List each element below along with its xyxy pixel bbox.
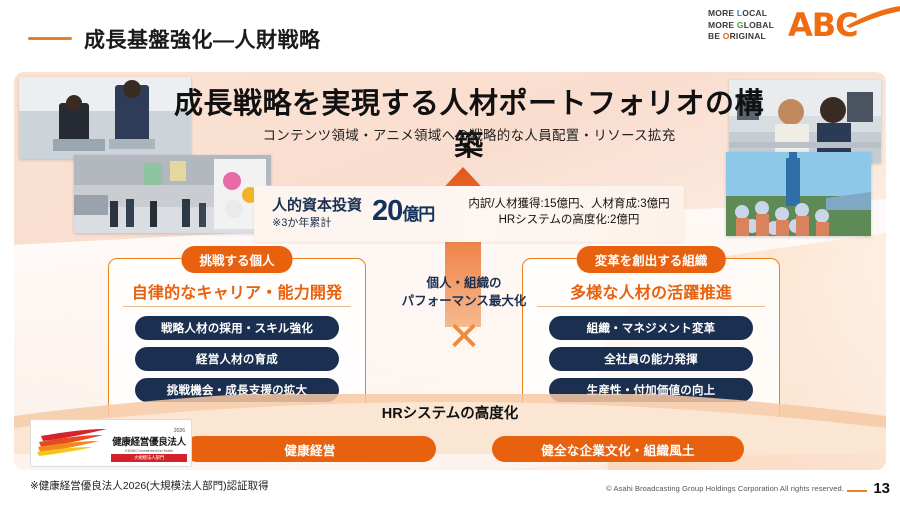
investment-label: 人的資本投資 [272,194,362,215]
page-title: 成長基盤強化—人財戦略 [84,24,321,54]
panel-right-item-2: 全社員の能力発揮 [549,347,753,371]
photo-office-laptop [19,77,191,159]
panel-left-badge: 挑戦する個人 [181,246,292,273]
footnote: ※健康経営優良法人2026(大規模法人部門)認証取得 [30,478,269,493]
slide-root: 成長基盤強化—人財戦略 MORE LOCALMORE GLOBALBE ORIG… [0,0,900,506]
logo-swoosh-icon [844,6,900,28]
center-line-1: 個人・組織の [384,274,544,292]
center-line-2: パフォーマンス最大化 [384,292,544,310]
photo-tower-group [726,152,871,236]
panel-left-item-2: 経営人材の育成 [135,347,339,371]
copyright: © Asahi Broadcasting Group Holdings Corp… [606,484,844,493]
cert-wing-icon [37,428,109,458]
main-board: 成長戦略を実現する人材ポートフォリオの構築 コンテンツ領域・アニメ領域への戦略的… [14,72,886,470]
multiply-icon: ✕ [384,317,544,357]
tagline-line-1: MORE LOCAL [708,8,767,18]
logo-tagline: MORE LOCALMORE GLOBALBE ORIGINAL [708,8,774,43]
panel-right-badge: 変革を創出する組織 [577,246,726,273]
hero-subhead: コンテンツ領域・アニメ領域への戦略的な人員配置・リソース拡充 [169,124,769,144]
tagline-line-2: MORE GLOBAL [708,20,774,30]
breakdown-line-2: HRシステムの高度化:2億円 [459,212,679,228]
panel-right-heading: 多様な人材の活躍推進 [523,279,779,303]
header-rule [28,37,72,40]
panel-left-item-1: 戦略人材の採用・スキル強化 [135,316,339,340]
panel-right-item-1: 組織・マネジメント変革 [549,316,753,340]
bar-health-management: 健康経営 [184,436,436,462]
hero-headline: 成長戦略を実現する人材ポートフォリオの構築 [169,80,769,164]
cert-text-block: 2026 健康経営優良法人 KENKO investment for Healt… [111,428,187,462]
investment-note: ※3か年累計 [272,214,331,230]
cert-band: 大規模法人部門 [111,454,187,462]
photo-lobby-atrium [74,155,271,233]
investment-breakdown: 内訳/人材獲得:15億円、人材育成:3億円 HRシステムの高度化:2億円 [459,196,679,228]
abc-logo: MORE LOCALMORE GLOBALBE ORIGINAL ABC [696,4,886,50]
footer-rule [847,490,867,492]
panel-right-divider [537,306,765,307]
cert-title: 健康経営優良法人 [111,434,187,448]
bar-corporate-culture: 健全な企業文化・組織風土 [492,436,744,462]
tagline-line-3: BE ORIGINAL [708,31,766,41]
panel-left-divider [123,306,351,307]
investment-amount: 20億円 [372,195,434,228]
center-performance-text: 個人・組織の パフォーマンス最大化 [384,274,544,310]
breakdown-line-1: 内訳/人材獲得:15億円、人材育成:3億円 [459,196,679,212]
panel-left-heading: 自律的なキャリア・能力開発 [109,279,365,303]
investment-band: 人的資本投資 ※3か年累計 20億円 内訳/人材獲得:15億円、人材育成:3億円… [254,186,684,242]
health-certification-logo: 2026 健康経営優良法人 KENKO investment for Healt… [30,419,192,467]
cert-subtitle: KENKO investment for Health [111,448,187,453]
page-number: 13 [873,480,890,497]
